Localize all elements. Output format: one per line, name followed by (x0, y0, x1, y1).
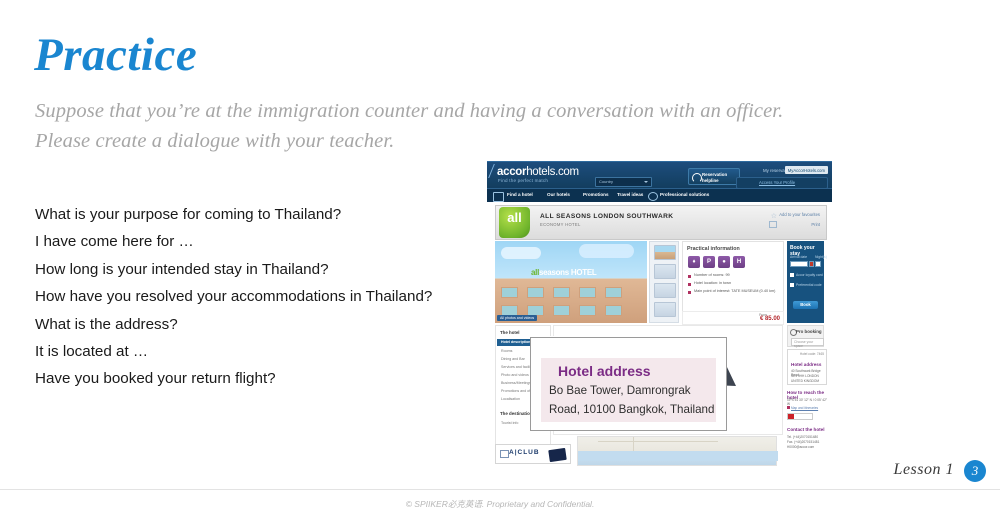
hotel-name: ALL SEASONS LONDON SOUTHWARK (540, 213, 673, 220)
aclub-banner[interactable]: A|CLUB (495, 444, 571, 464)
page-number-badge: 3 (964, 460, 986, 482)
photo-thumbnail-column (649, 241, 679, 323)
hotel-address-line-3: UNITED KINGDOM (791, 379, 819, 383)
hotel-fax: Fax. (+44)2070151481 (787, 440, 819, 444)
map-button[interactable] (787, 413, 813, 420)
book-button[interactable]: Book (793, 301, 818, 309)
nav-travel-ideas[interactable]: Travel ideas (617, 192, 643, 197)
sidebar-item-photos[interactable]: Photo and videos (501, 373, 529, 377)
map-and-itineraries-link[interactable]: Map and itineraries (791, 406, 818, 410)
accor-logo-bold: accor (497, 166, 526, 178)
location-map[interactable] (577, 436, 777, 466)
practical-bullet: Main point of interest: TATE MUSEUM (0.4… (694, 289, 775, 293)
window-shape (605, 287, 622, 298)
hotel-code-label: Hotel code: 7465 (800, 352, 824, 356)
question-item: What is your purpose for coming to Thail… (35, 201, 435, 228)
accor-site-header: accorhotels.com Find the perfect match C… (487, 161, 832, 202)
sign-seasons: seasons (539, 268, 569, 277)
hotel-address-callout-title: Hotel address (558, 363, 651, 379)
photo-thumbnail[interactable] (654, 283, 676, 298)
hotel-photo-sign: allseasons HOTEL (531, 268, 596, 277)
accor-logo: accorhotels.com (497, 166, 579, 178)
my-accor-tab[interactable]: MyAccorHotels.com (785, 166, 828, 174)
photo-thumbnail[interactable] (654, 302, 676, 317)
sidebar-header-the-hotel: The hotel (500, 330, 520, 335)
cloud-shape (579, 244, 634, 258)
question-item: What is the address? (35, 311, 435, 338)
question-item: Have you booked your return flight? (35, 365, 435, 392)
preferential-code-checkbox[interactable] (790, 283, 794, 287)
pro-booking-title: Pro booking (796, 329, 822, 334)
map-river (578, 451, 778, 461)
slide-canvas: Practice Suppose that you’re at the immi… (0, 0, 1000, 516)
hotel-address-column: Hotel code: 7465 Hotel address 40 Southw… (787, 349, 827, 449)
bullet-marker (787, 406, 790, 409)
all-photos-button[interactable]: All photos and videos (497, 315, 537, 321)
calendar-icon[interactable] (809, 261, 814, 267)
window-shape (527, 287, 544, 298)
footer-divider (0, 489, 1000, 490)
hotel-title-bar: all ALL SEASONS LONDON SOUTHWARK ECONOMY… (495, 205, 827, 240)
nav-find-a-hotel[interactable]: Find a hotel (507, 192, 533, 197)
photo-thumbnail[interactable] (654, 245, 676, 260)
hotel-address-line-2: SE1 9HH LONDON (791, 374, 819, 378)
nights-label: Night(s) (815, 255, 827, 259)
country-select[interactable]: Country (595, 177, 652, 187)
window-shape (553, 305, 570, 316)
page-title: Practice (34, 32, 197, 79)
headset-icon (692, 173, 702, 183)
wifi-icon: ♦ (688, 256, 700, 268)
map-pin-icon (788, 414, 794, 419)
loyalty-card-image (548, 448, 567, 462)
accor-logo-domain: .com (555, 166, 579, 178)
pro-booking-select[interactable]: Choose your space (791, 338, 824, 346)
elevator-icon: H (733, 256, 745, 268)
sidebar-item-business[interactable]: Business/Meetings (501, 381, 531, 385)
window-shape (553, 287, 570, 298)
sign-all: all (531, 268, 539, 277)
loyalty-card-checkbox[interactable] (790, 273, 794, 277)
bullet-marker (688, 275, 691, 278)
practical-bullet: Hotel location: in town (694, 281, 731, 285)
hotel-category: ECONOMY HOTEL (540, 222, 581, 227)
subtitle-line-1: Suppose that you’re at the immigration c… (35, 96, 865, 126)
sidebar-item-localisation[interactable]: Localisation (501, 397, 520, 401)
printer-icon[interactable] (769, 221, 777, 228)
subtitle-line-2: Please create a dialogue with your teach… (35, 126, 865, 156)
hotel-photo[interactable]: allseasons HOTEL All photos and videos (495, 241, 647, 323)
contact-hotel-title: Contact the hotel (787, 427, 825, 432)
question-item: How have you resolved your accommodation… (35, 283, 435, 310)
all-brand-logo: all (499, 207, 530, 238)
gps-coordinates: GPS 51 30' 12" N / 0 05' 42" W (787, 398, 827, 406)
cloud-shape (501, 247, 541, 259)
hotel-address-box: Hotel code: 7465 Hotel address 40 Southw… (787, 349, 827, 385)
window-shape (579, 305, 596, 316)
question-list: What is your purpose for coming to Thail… (35, 201, 435, 393)
accor-tagline: Find the perfect match (498, 178, 548, 183)
nav-promotions[interactable]: Promotions (583, 192, 609, 197)
globe-icon (648, 192, 658, 201)
arrival-date-input[interactable] (790, 261, 808, 267)
question-item: It is located at … (35, 338, 435, 365)
aclub-icon (500, 450, 509, 458)
sidebar-item-tourist-info[interactable]: Tourist info (501, 421, 518, 425)
hotel-address-callout: Hotel address Bo Bae Tower, Damrongrak R… (530, 337, 727, 431)
price-row: From € 85.00 (682, 311, 784, 325)
home-icon[interactable] (493, 192, 504, 202)
arrival-date-label: Arrival date (790, 255, 807, 259)
nights-input[interactable] (815, 261, 821, 267)
price-value: € 85.00 (760, 316, 780, 322)
question-item: How long is your intended stay in Thaila… (35, 256, 435, 283)
reservation-helpline-button[interactable]: Reservation helpline (688, 168, 740, 185)
chevron-down-icon (644, 181, 648, 183)
sidebar-item-label: Hotel description (501, 340, 530, 344)
practical-information-title: Practical information (687, 246, 740, 252)
window-shape (501, 287, 518, 298)
bullet-marker (688, 291, 691, 294)
window-shape (579, 287, 596, 298)
aclub-label: A|CLUB (509, 449, 540, 456)
pro-booking-panel: Pro booking Choose your space (787, 325, 824, 347)
nav-professional-solutions[interactable]: Professional solutions (660, 192, 709, 197)
accessibility-icon: ● (718, 256, 730, 268)
bullet-marker (688, 283, 691, 286)
star-icon[interactable]: ☆ (771, 212, 777, 220)
sign-hotel: HOTEL (571, 268, 597, 277)
loyalty-card-label: Accor loyalty card (796, 273, 823, 277)
sidebar-header-the-destination: The destination (500, 411, 532, 416)
print-link[interactable]: Print (811, 222, 820, 227)
practical-bullet: Number of rooms: 99 (694, 273, 730, 277)
access-profile-link: Access Your Profile (759, 180, 795, 185)
question-item: I have come here for … (35, 228, 435, 255)
parking-icon: P (703, 256, 715, 268)
hotel-address-title: Hotel address (791, 362, 821, 367)
sidebar-item-dining-and-bar[interactable]: Dining and Bar (501, 357, 525, 361)
hotel-address-callout-line-1: Bo Bae Tower, Damrongrak (549, 384, 691, 397)
nav-our-hotels[interactable]: Our hotels (547, 192, 570, 197)
accor-logo-rest: hotels (526, 166, 555, 178)
hotel-email[interactable]: H0000@accor.com (787, 445, 814, 449)
country-select-value: Country (599, 179, 613, 184)
accor-main-nav: Find a hotel Our hotels Promotions Trave… (487, 188, 832, 202)
window-shape (605, 305, 622, 316)
pro-booking-select-value: Choose your space (794, 340, 823, 348)
hotel-telephone: Tel. (+44)2070151480 (787, 435, 818, 439)
photo-thumbnail[interactable] (654, 264, 676, 279)
add-to-favourites-link[interactable]: Add to your favourites (779, 212, 820, 217)
slide-subtitle: Suppose that you’re at the immigration c… (35, 96, 865, 157)
hotel-address-callout-line-2: Road, 10100 Bangkok, Thailand (549, 403, 714, 416)
lesson-label: Lesson 1 (894, 461, 954, 479)
book-your-stay-panel: Book your stay Arrival date Night(s) Acc… (787, 241, 824, 323)
map-road (633, 437, 634, 452)
map-road (598, 441, 718, 442)
copyright-text: © SPIIKER必克英语. Proprietary and Confident… (0, 498, 1000, 510)
hotel-address-callout-inner: Hotel address Bo Bae Tower, Damrongrak R… (541, 358, 716, 422)
preferential-code-label: Preferential code (796, 283, 822, 287)
helpline-label: Reservation helpline (702, 172, 727, 183)
sidebar-item-rooms[interactable]: Rooms (501, 349, 512, 353)
